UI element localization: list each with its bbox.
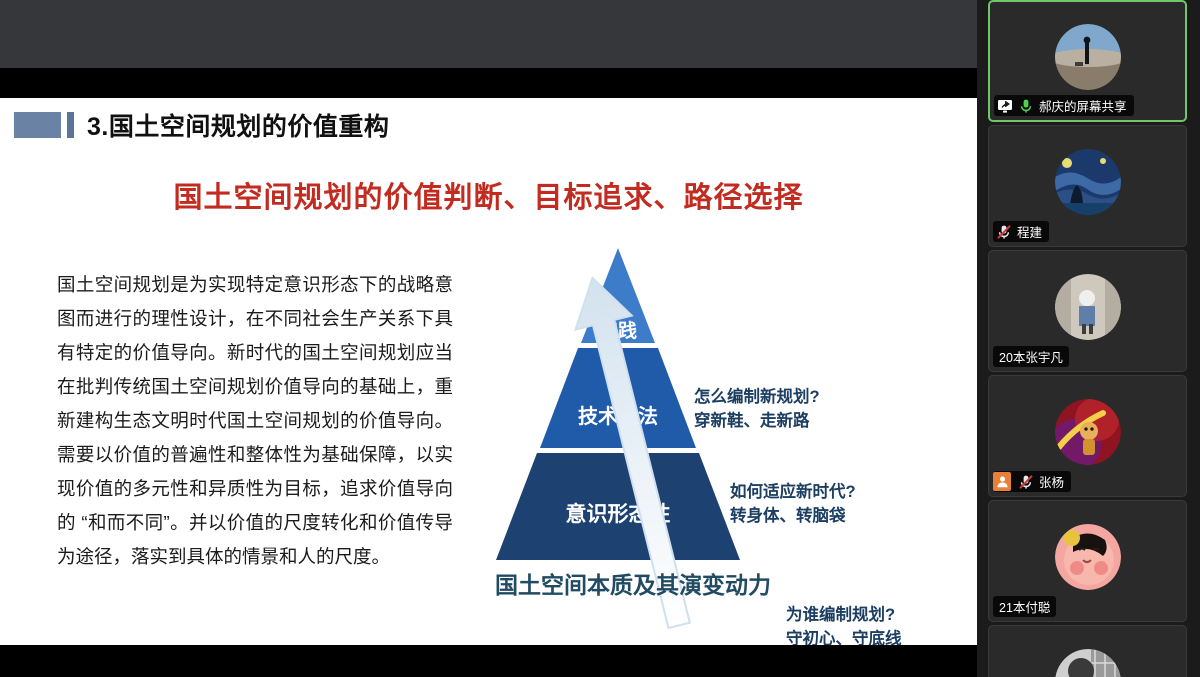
shared-window-top-bar (0, 0, 977, 68)
participant-name: 20本张宇凡 (999, 347, 1063, 366)
microphone-muted-icon (1018, 474, 1034, 490)
pyramid-annotation-3: 为谁编制规划? 守初心、守底线 (786, 603, 902, 645)
pyramid-tier-1-label: 实践 (468, 316, 768, 343)
zoom-screen-share-window: 3.国土空间规划的价值重构 国土空间规划的价值判断、目标追求、路径选择 国土空间… (0, 0, 1200, 677)
screen-share-icon (997, 98, 1013, 114)
annotation-3-line-2: 守初心、守底线 (786, 627, 902, 645)
heading-accent-block-icon (14, 112, 61, 138)
participant-tile[interactable]: 郝庆的屏幕共享 (988, 0, 1187, 122)
participant-video-strip[interactable]: 郝庆的屏幕共享 (977, 0, 1200, 677)
shared-screen-area: 3.国土空间规划的价值重构 国土空间规划的价值判断、目标追求、路径选择 国土空间… (0, 0, 977, 677)
annotation-2-line-1: 如何适应新时代? (730, 480, 856, 504)
participant-name-bar: 程建 (993, 221, 1049, 242)
participant-tile[interactable]: 张杨 (988, 375, 1187, 497)
participant-name-bar: 21本付聪 (993, 596, 1056, 617)
avatar (1055, 649, 1121, 677)
avatar (1055, 149, 1121, 215)
slide-body-paragraph: 国土空间规划是为实现特定意识形态下的战略意图而进行的理性设计，在不同社会生产关系… (57, 268, 453, 574)
slide-section-heading: 3.国土空间规划的价值重构 (14, 107, 389, 143)
slide-section-title: 3.国土空间规划的价值重构 (87, 107, 389, 143)
avatar (1055, 24, 1121, 90)
annotation-2-line-2: 转身体、转脑袋 (730, 504, 856, 528)
participant-name: 21本付聪 (999, 597, 1050, 616)
pyramid-annotation-2: 如何适应新时代? 转身体、转脑袋 (730, 480, 856, 528)
pyramid-tier-3-label: 意识形态性 (468, 498, 768, 528)
annotation-3-line-1: 为谁编制规划? (786, 603, 902, 627)
heading-accent-bar-icon (67, 112, 74, 138)
microphone-unmuted-icon (1018, 98, 1034, 114)
participant-tile[interactable]: 21本付聪 (988, 500, 1187, 622)
participant-name-bar: 20本张宇凡 (993, 346, 1069, 367)
participant-tile[interactable]: 20本张宇凡 (988, 250, 1187, 372)
participant-name-bar: 张杨 (993, 471, 1071, 492)
participant-tile[interactable]: 程建 (988, 125, 1187, 247)
avatar (1055, 274, 1121, 340)
avatar (1055, 524, 1121, 590)
pyramid-annotation-1: 怎么编制新规划? 穿新鞋、走新路 (694, 385, 820, 433)
annotation-1-line-2: 穿新鞋、走新路 (694, 409, 820, 433)
participant-tile[interactable] (988, 625, 1187, 677)
participant-name: 程建 (1017, 222, 1042, 241)
microphone-muted-icon (996, 224, 1012, 240)
pyramid-caption: 国土空间本质及其演变动力 (468, 566, 798, 600)
host-person-badge-icon (993, 472, 1011, 491)
slide-headline: 国土空间规划的价值判断、目标追求、路径选择 (0, 174, 977, 216)
shared-window-bottom-band (0, 645, 977, 677)
powerpoint-slide: 3.国土空间规划的价值重构 国土空间规划的价值判断、目标追求、路径选择 国土空间… (0, 98, 977, 645)
avatar (1055, 399, 1121, 465)
annotation-1-line-1: 怎么编制新规划? (694, 385, 820, 409)
participant-name-bar: 郝庆的屏幕共享 (994, 95, 1134, 116)
participant-name: 张杨 (1039, 472, 1064, 491)
participant-name: 郝庆的屏幕共享 (1039, 96, 1127, 115)
shared-window-black-band (0, 68, 977, 98)
